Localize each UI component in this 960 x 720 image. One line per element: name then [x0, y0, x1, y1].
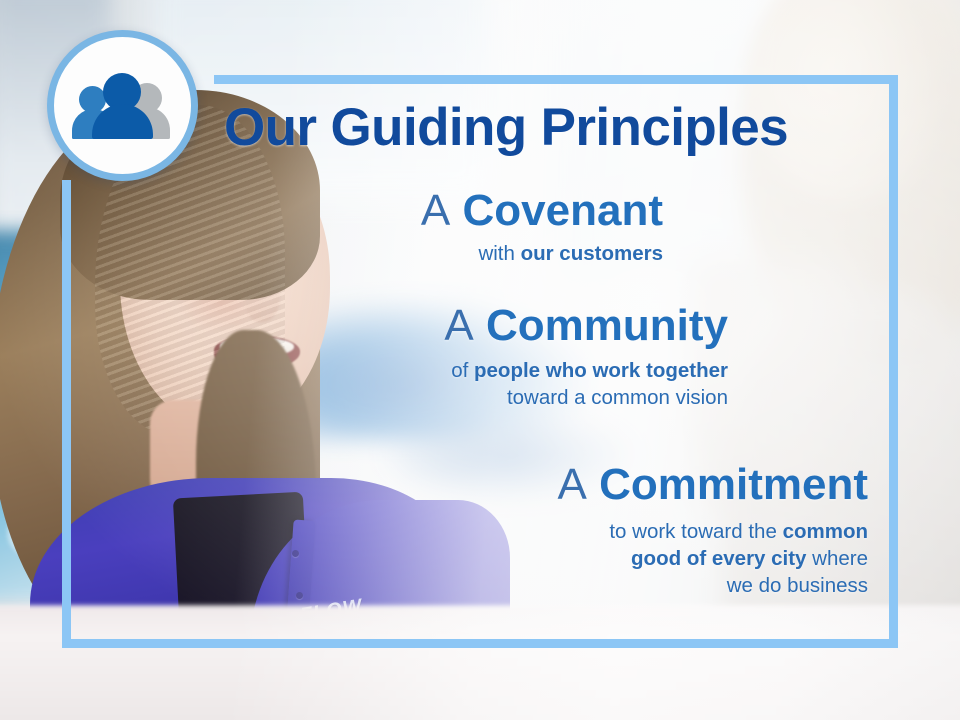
people-group-icon	[70, 73, 176, 139]
principle-detail-run: toward a common vision	[507, 386, 728, 409]
principle-heading: A Covenant	[421, 188, 663, 234]
guiding-principles-graphic: FLOW automotive FLOW	[0, 0, 960, 720]
principle-block-community: A Community of people who work togethert…	[444, 303, 728, 411]
principle-heading: A Commitment	[558, 462, 869, 508]
principle-detail-run: our customers	[521, 242, 663, 265]
principle-detail-line: with our customers	[421, 240, 663, 267]
principle-detail-run: to work toward the	[609, 520, 782, 543]
frame-line-bottom	[62, 639, 898, 648]
principle-detail-run: common	[783, 520, 868, 543]
principle-article: A	[558, 460, 587, 509]
principle-detail-line: of people who work together	[444, 357, 728, 384]
principle-detail: with our customers	[421, 240, 663, 267]
principle-keyword: Covenant	[463, 186, 663, 235]
principle-detail: to work toward the commongood of every c…	[558, 518, 869, 599]
principle-detail: of people who work togethertoward a comm…	[444, 357, 728, 411]
page-title: Our Guiding Principles	[224, 97, 788, 158]
principle-detail-line: toward a common vision	[444, 384, 728, 411]
principle-article: A	[421, 186, 450, 235]
frame-line-right	[889, 75, 898, 648]
principle-detail-line: to work toward the common	[558, 518, 869, 545]
principle-detail-run: where	[806, 547, 868, 570]
principle-heading: A Community	[444, 303, 728, 349]
frame-line-top	[214, 75, 898, 84]
principle-article: A	[444, 301, 473, 350]
people-group-badge	[47, 30, 198, 181]
frame-line-left	[62, 180, 71, 648]
principle-detail-run: of	[451, 359, 474, 382]
principle-detail-run: good of every city	[631, 547, 806, 570]
principle-detail-run: with	[478, 242, 520, 265]
principle-detail-run: people who work together	[474, 359, 728, 382]
principle-detail-line: good of every city where	[558, 545, 869, 572]
principle-detail-line: we do business	[558, 572, 869, 599]
principle-detail-run: we do business	[727, 574, 868, 597]
principle-keyword: Community	[486, 301, 728, 350]
principle-block-covenant: A Covenant with our customers	[421, 188, 663, 267]
principle-keyword: Commitment	[599, 460, 868, 509]
principle-block-commitment: A Commitment to work toward the commongo…	[558, 462, 869, 599]
